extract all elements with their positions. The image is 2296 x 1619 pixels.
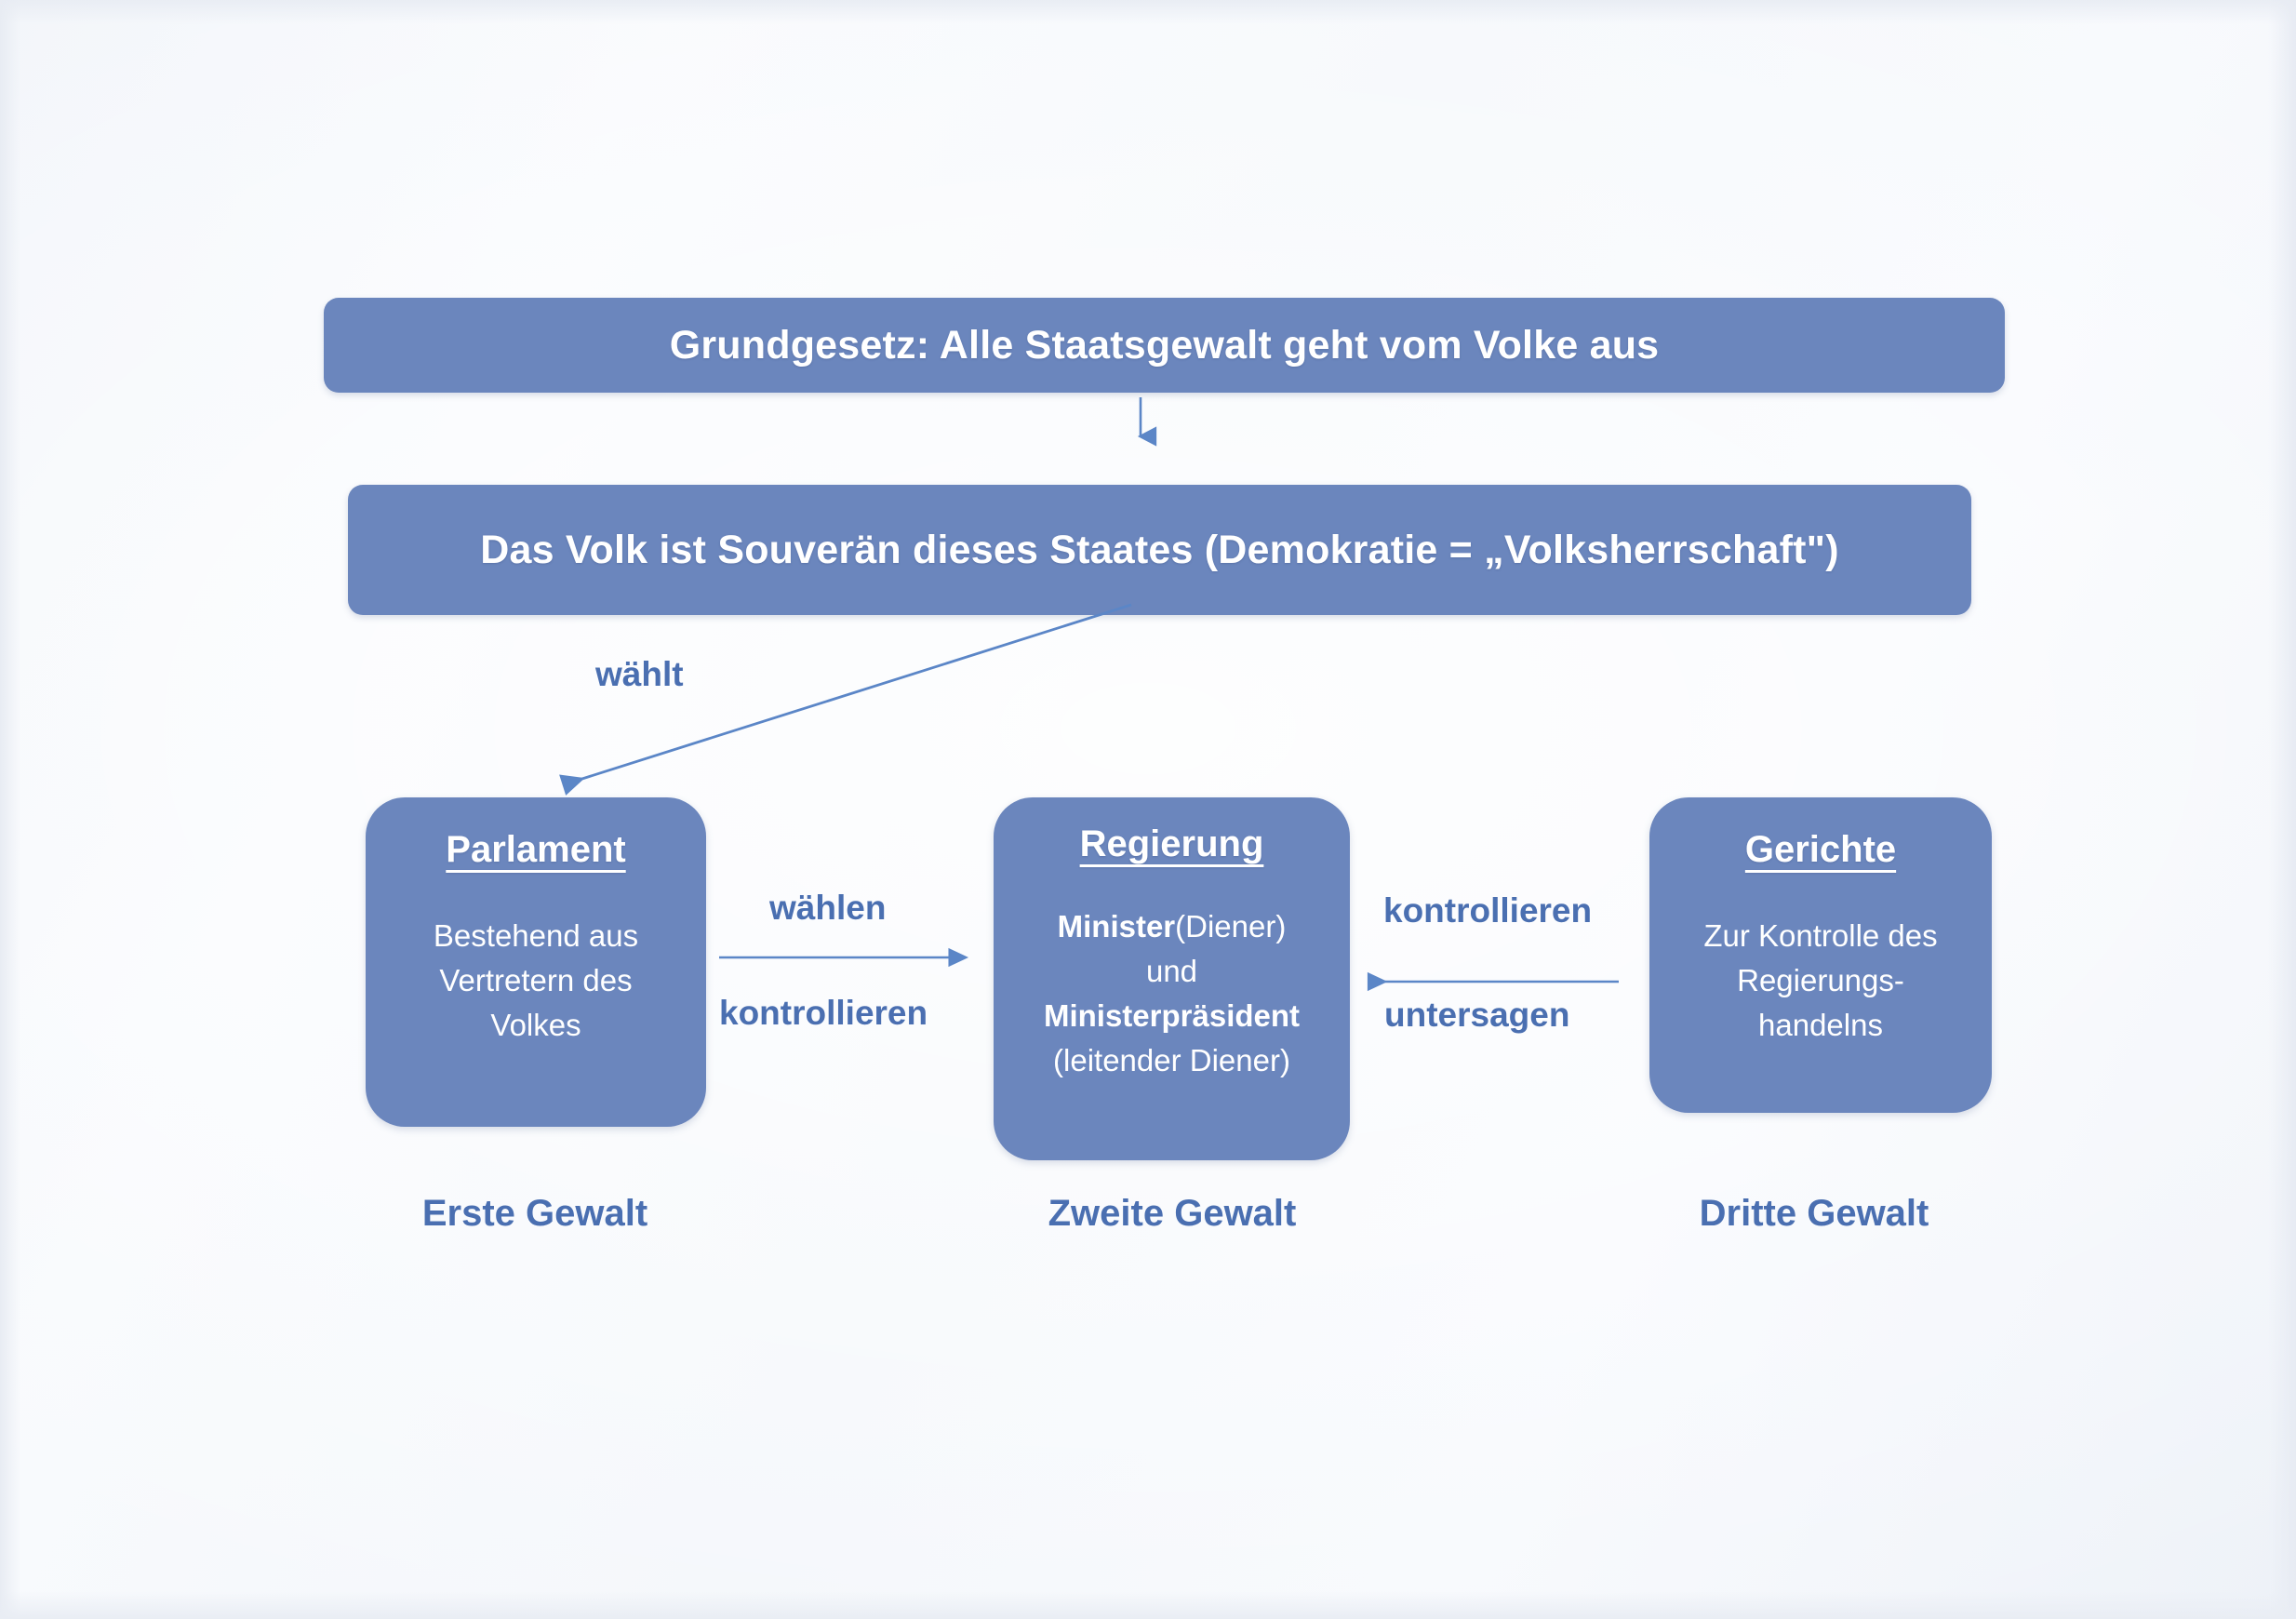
arrow-left-gerichte-regierung-icon: [1347, 966, 1626, 999]
banner-volk-souveraen: Das Volk ist Souverän dieses Staates (De…: [348, 485, 1971, 615]
box-regierung-minister-bold: Minister: [1058, 909, 1176, 943]
box-gerichte-body: Zur Kontrolle des Regierungs- handelns: [1703, 914, 1937, 1048]
paper-edge-right: [2268, 0, 2296, 1619]
box-parlament-body-line: Volkes: [434, 1003, 638, 1048]
box-gerichte-body-line: Zur Kontrolle des: [1703, 914, 1937, 958]
box-parlament-title: Parlament: [446, 829, 625, 871]
box-parlament: Parlament Bestehend aus Vertretern des V…: [366, 797, 706, 1127]
paper-edge-top: [0, 0, 2296, 24]
edge-label-kontrollieren-gerichte: kontrollieren: [1383, 891, 1592, 930]
box-parlament-body: Bestehend aus Vertretern des Volkes: [434, 914, 638, 1048]
edge-label-untersagen: untersagen: [1384, 996, 1569, 1035]
box-regierung-body: Minister(Diener) und Ministerpräsident (…: [1044, 904, 1300, 1082]
power-label-zweite-gewalt: Zweite Gewalt: [1033, 1193, 1312, 1235]
box-gerichte-body-line: Regierungs-: [1703, 958, 1937, 1003]
paper-edge-left: [0, 0, 20, 1619]
edge-label-waehlen: wählen: [769, 889, 886, 928]
box-gerichte-title: Gerichte: [1745, 829, 1896, 871]
power-label-dritte-gewalt: Dritte Gewalt: [1675, 1193, 1954, 1235]
edge-label-waehlt: wählt: [595, 655, 684, 694]
box-regierung-body-line: Ministerpräsident: [1044, 994, 1300, 1038]
paper-edge-bottom: [0, 1591, 2296, 1619]
edge-label-kontrollieren-parlament: kontrollieren: [719, 994, 928, 1033]
box-gerichte: Gerichte Zur Kontrolle des Regierungs- h…: [1649, 797, 1992, 1113]
banner-volk-text: Das Volk ist Souverän dieses Staates (De…: [480, 528, 1839, 573]
box-gerichte-body-line: handelns: [1703, 1003, 1937, 1048]
box-regierung: Regierung Minister(Diener) und Ministerp…: [994, 797, 1350, 1160]
box-parlament-body-line: Vertretern des: [434, 958, 638, 1003]
diagram-page: Grundgesetz: Alle Staatsgewalt geht vom …: [0, 0, 2296, 1619]
banner-grundgesetz-text: Grundgesetz: Alle Staatsgewalt geht vom …: [670, 323, 1660, 368]
arrow-diagonal-waehlt-icon: [540, 595, 1154, 800]
box-parlament-body-line: Bestehend aus: [434, 914, 638, 958]
arrow-down-icon: [1112, 395, 1177, 451]
arrow-right-parlament-regierung-icon: [712, 942, 991, 975]
box-regierung-body-line: (leitender Diener): [1044, 1038, 1300, 1083]
banner-grundgesetz: Grundgesetz: Alle Staatsgewalt geht vom …: [324, 298, 2005, 393]
box-regierung-body-line: und: [1044, 949, 1300, 994]
box-regierung-minister-suffix: (Diener): [1175, 909, 1286, 943]
box-regierung-title: Regierung: [1080, 823, 1264, 865]
power-label-erste-gewalt: Erste Gewalt: [400, 1193, 670, 1235]
box-regierung-body-line: Minister(Diener): [1044, 904, 1300, 949]
